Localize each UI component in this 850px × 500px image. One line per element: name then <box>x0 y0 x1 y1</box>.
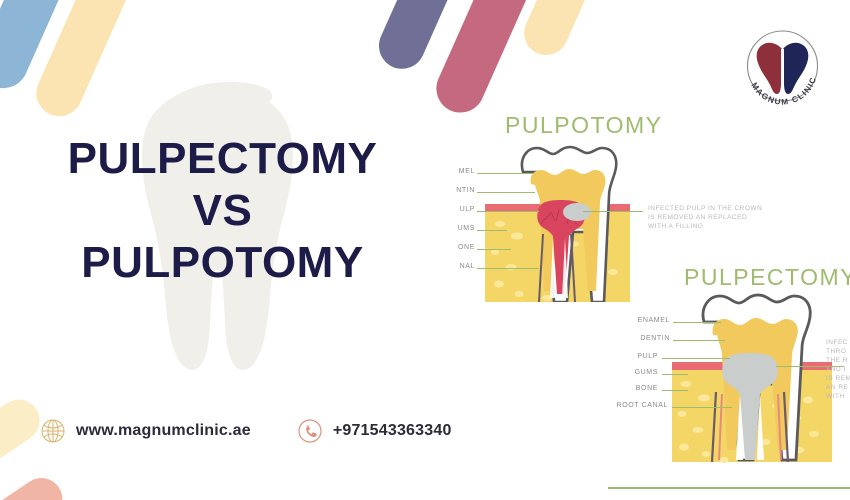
headline-line-3: PULPOTOMY <box>10 237 435 289</box>
label-root-canal: NAL <box>451 263 475 270</box>
label-bone: BONE <box>608 385 658 392</box>
globe-icon <box>40 418 66 444</box>
capsule-rose-top <box>429 0 544 120</box>
label-dentin: DENTIN <box>608 335 670 342</box>
label-root-canal: ROOT CANAL <box>598 402 668 409</box>
label-pulp: PULP <box>608 353 658 360</box>
label-dentin: NTIN <box>449 187 475 194</box>
note-pulpotomy: INFECTED PULP IN THE CROWN IS REMOVED AN… <box>648 204 762 231</box>
headline-line-2: VS <box>10 185 435 237</box>
phone-text: +971543363340 <box>333 422 452 440</box>
leader-line <box>477 249 511 250</box>
website-text: www.magnumclinic.ae <box>76 422 251 440</box>
leader-line <box>477 230 507 231</box>
logo-tooth-right <box>783 43 808 94</box>
magnum-clinic-logo[interactable]: MAGNUM CLINIC <box>735 27 830 105</box>
logo-tooth-left <box>757 43 782 94</box>
label-enamel: MEL <box>451 168 475 175</box>
label-enamel: ENAMEL <box>608 317 670 324</box>
page-title: PULPECTOMY VS PULPOTOMY <box>10 133 435 289</box>
leader-line <box>662 390 688 391</box>
capsule-cream-top-right <box>517 0 603 62</box>
leader-line <box>477 192 535 193</box>
leader-line <box>477 268 539 269</box>
label-bone: ONE <box>451 244 475 251</box>
label-gums: GUMS <box>608 369 658 376</box>
leader-line <box>662 374 688 375</box>
diagram-bottom-rule <box>608 487 850 489</box>
phone-icon <box>297 418 323 444</box>
footer-contact-bar: www.magnumclinic.ae +971543363340 <box>40 408 452 454</box>
label-pulp: ULP <box>451 206 475 213</box>
phone-item[interactable]: +971543363340 <box>297 418 452 444</box>
banner-canvas: PULPECTOMY VS PULPOTOMY MAGNUM CLINIC PU… <box>0 0 850 500</box>
capsule-salmon-bottom <box>0 470 71 500</box>
leader-line-note <box>583 211 643 212</box>
logo-text: MAGNUM CLINIC <box>749 75 818 105</box>
leader-line <box>477 173 533 174</box>
headline-line-1: PULPECTOMY <box>10 133 435 185</box>
diagram-pulpectomy: PULPECTOMY <box>600 262 850 487</box>
leader-line <box>673 340 725 341</box>
leader-line <box>662 358 730 359</box>
leader-line <box>477 211 539 212</box>
note-pulpectomy: INFEC THRO THE R AND I IS REM AN RE WITH <box>826 338 850 401</box>
leader-line <box>673 322 721 323</box>
website-item[interactable]: www.magnumclinic.ae <box>40 418 251 444</box>
label-gums: UMS <box>451 225 475 232</box>
leader-line <box>672 407 732 408</box>
